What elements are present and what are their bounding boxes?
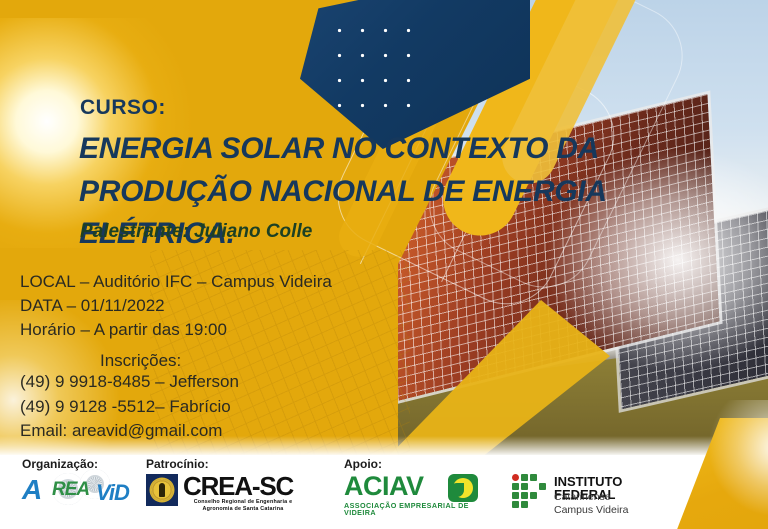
apoio-caption: Apoio: <box>344 458 492 470</box>
patrocinio-caption: Patrocínio: <box>146 458 304 470</box>
areavid-logo: A REA ViD <box>22 473 144 507</box>
course-kicker: CURSO: <box>80 97 166 118</box>
crea-sc-wordmark: CREA-SC <box>183 473 293 499</box>
event-details: LOCAL – Auditório IFC – Campus Videira D… <box>20 270 332 342</box>
crea-sc-logo: CREA-SC Conselho Regional de Engenharia … <box>146 473 304 509</box>
speaker-line: Palestrante: Juliano Colle <box>80 222 312 241</box>
aciav-logo: ACIAV ASSOCIAÇÃO EMPRESARIAL DE VIDEIRA <box>344 473 492 511</box>
patrocinio-block: Patrocínio: CREA-SC Conselho Regional de… <box>146 458 304 509</box>
areavid-logo-rea: REA <box>52 480 89 499</box>
contact-list: (49) 9 9918-8485 – Jefferson (49) 9 9128… <box>20 370 239 444</box>
ifc-subtitle: Catarinense Campus Videira <box>554 491 629 517</box>
apoio-block: Apoio: ACIAV ASSOCIAÇÃO EMPRESARIAL DE V… <box>344 458 492 511</box>
aciav-wordmark: ACIAV <box>344 473 424 500</box>
crea-emblem-icon <box>146 474 178 506</box>
areavid-logo-vid: ViD <box>96 482 129 504</box>
areavid-logo-a: A <box>22 476 42 504</box>
organizacao-caption: Organização: <box>22 458 144 470</box>
organizacao-block: Organização: A REA ViD <box>22 458 144 507</box>
aciav-subtitle: ASSOCIAÇÃO EMPRESARIAL DE VIDEIRA <box>344 502 492 516</box>
event-poster: CURSO: ENERGIA SOLAR NO CONTEXTO DA PROD… <box>0 0 768 529</box>
crea-sc-subtitle: Conselho Regional de Engenharia e Agrono… <box>184 499 302 514</box>
registration-heading: Inscrições: <box>100 352 181 369</box>
ifc-grid-icon <box>512 474 546 508</box>
aciav-mark-icon <box>448 474 478 502</box>
instituto-federal-block: INSTITUTO FEDERAL Catarinense Campus Vid… <box>512 473 680 511</box>
instituto-federal-logo: INSTITUTO FEDERAL Catarinense Campus Vid… <box>512 473 680 511</box>
poster-content: CURSO: ENERGIA SOLAR NO CONTEXTO DA PROD… <box>0 0 768 529</box>
